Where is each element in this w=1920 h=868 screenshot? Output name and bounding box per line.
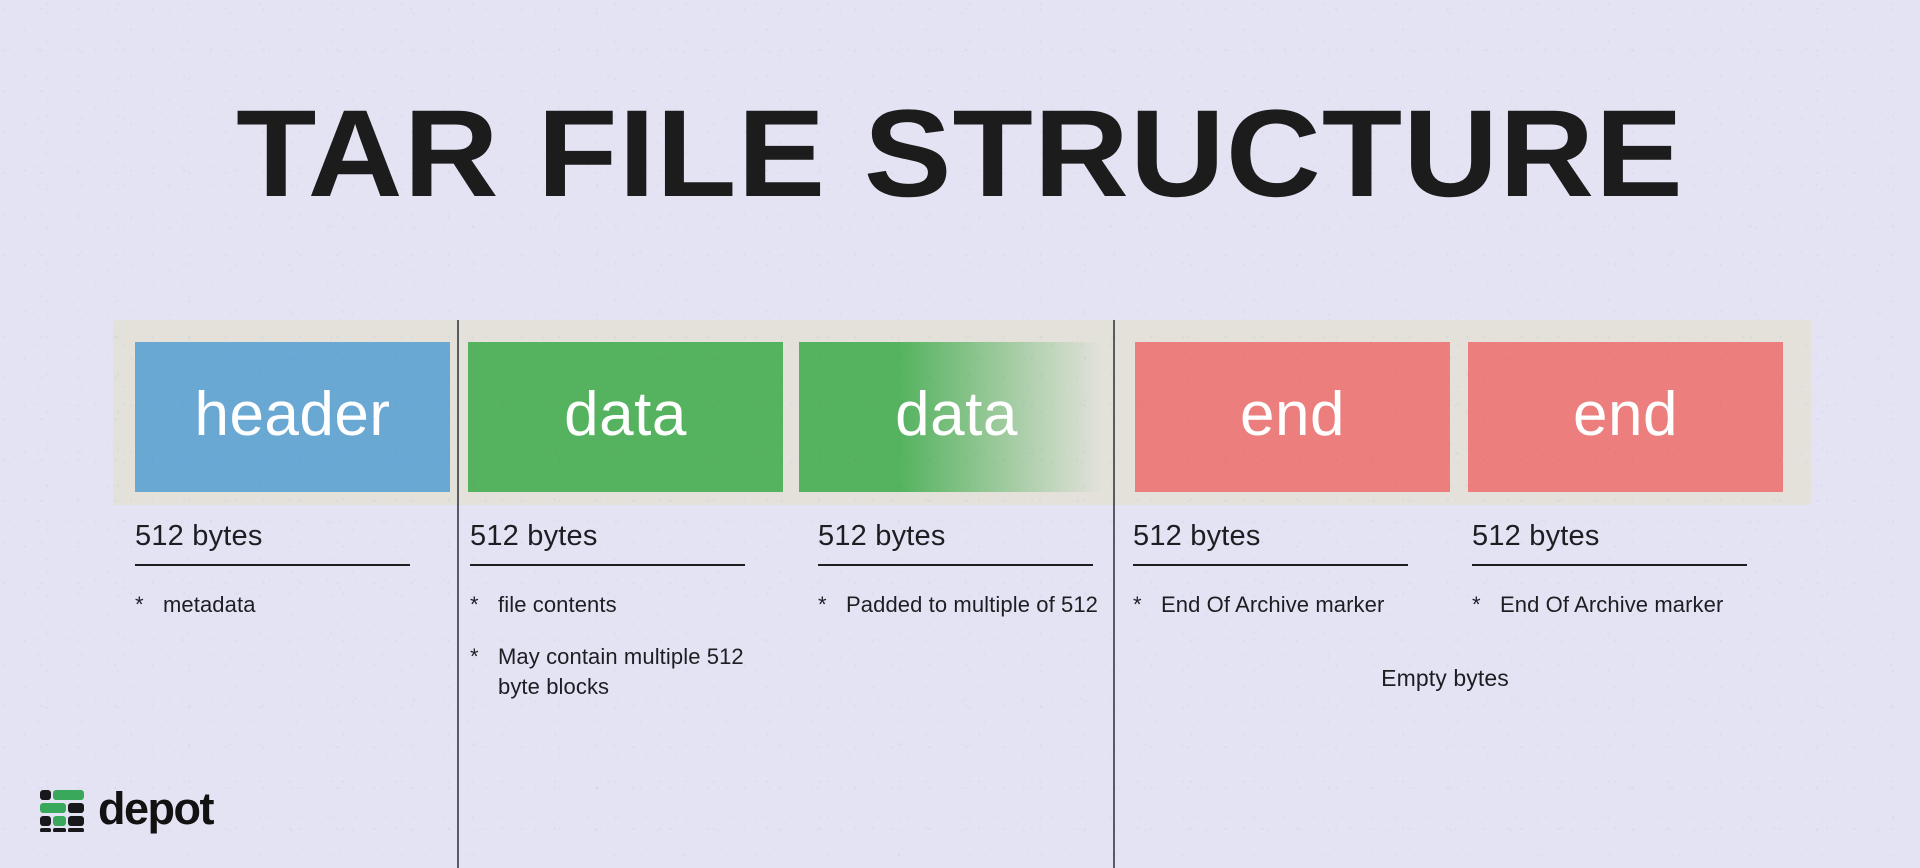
empty-bytes-note: Empty bytes [1130, 665, 1760, 692]
list-item: * Padded to multiple of 512 [818, 590, 1098, 620]
section-divider-2 [1113, 320, 1115, 868]
list-item-text: Padded to multiple of 512 [846, 590, 1098, 620]
bullet-list: * metadata [135, 590, 415, 620]
asterisk-icon: * [135, 590, 163, 620]
asterisk-icon: * [818, 590, 846, 620]
data-block-1: data [468, 342, 783, 492]
end-block-2: end [1468, 342, 1783, 492]
end-block-1: end [1135, 342, 1450, 492]
section-divider-1 [457, 320, 459, 868]
depot-wordmark: depot [98, 786, 213, 831]
asterisk-icon: * [1133, 590, 1161, 620]
list-item: * May contain multiple 512 byte blocks [470, 642, 750, 702]
column-rule [470, 564, 745, 566]
list-item-text: file contents [498, 590, 750, 620]
bullet-list: * file contents * May contain multiple 5… [470, 590, 750, 702]
byte-size-label: 512 bytes [135, 520, 415, 553]
list-item-text: End Of Archive marker [1500, 590, 1752, 620]
column-rule [818, 564, 1093, 566]
list-item: * file contents [470, 590, 750, 620]
bullet-list: * End Of Archive marker [1472, 590, 1752, 620]
caption-column-data-2: 512 bytes * Padded to multiple of 512 [818, 520, 1098, 642]
depot-logo: depot [40, 787, 213, 832]
column-rule [135, 564, 410, 566]
end-block-1-label: end [1240, 384, 1345, 446]
caption-column-end-2: 512 bytes * End Of Archive marker [1472, 520, 1752, 642]
header-block: header [135, 342, 450, 492]
list-item-text: metadata [163, 590, 415, 620]
caption-column-end-1: 512 bytes * End Of Archive marker [1133, 520, 1408, 642]
list-item: * metadata [135, 590, 415, 620]
asterisk-icon: * [470, 590, 498, 620]
asterisk-icon: * [1472, 590, 1500, 620]
byte-size-label: 512 bytes [470, 520, 750, 553]
page-title: TAR FILE STRUCTURE [0, 92, 1920, 216]
header-block-label: header [194, 384, 390, 446]
list-item-text: End Of Archive marker [1161, 590, 1408, 620]
depot-logo-mark-icon [40, 788, 84, 832]
list-item: * End Of Archive marker [1133, 590, 1408, 620]
byte-size-label: 512 bytes [1472, 520, 1752, 553]
byte-size-label: 512 bytes [818, 520, 1098, 553]
data-block-2-label: data [895, 384, 1018, 446]
bullet-list: * Padded to multiple of 512 [818, 590, 1098, 620]
column-rule [1472, 564, 1747, 566]
list-item: * End Of Archive marker [1472, 590, 1752, 620]
block-band: header data data end end [113, 320, 1811, 505]
bullet-list: * End Of Archive marker [1133, 590, 1408, 620]
caption-column-header: 512 bytes * metadata [135, 520, 415, 642]
caption-columns: 512 bytes * metadata 512 bytes * file co… [0, 520, 1920, 750]
asterisk-icon: * [470, 642, 498, 702]
byte-size-label: 512 bytes [1133, 520, 1408, 553]
caption-column-data-1: 512 bytes * file contents * May contain … [470, 520, 750, 724]
list-item-text: May contain multiple 512 byte blocks [498, 642, 750, 702]
data-block-2: data [799, 342, 1114, 492]
data-block-1-label: data [564, 384, 687, 446]
column-rule [1133, 564, 1408, 566]
end-block-2-label: end [1573, 384, 1678, 446]
